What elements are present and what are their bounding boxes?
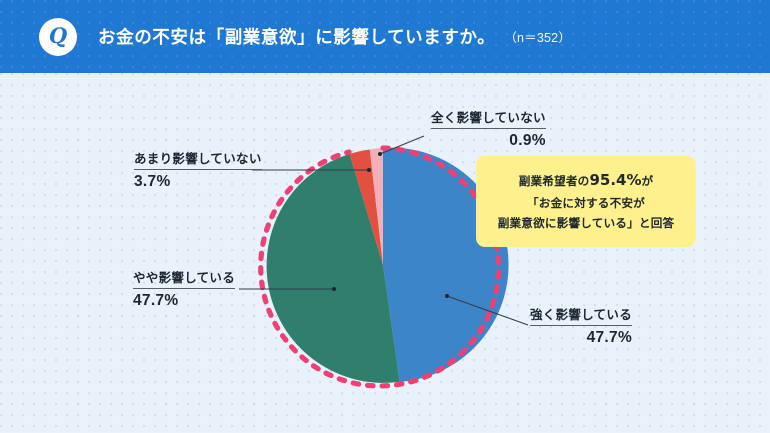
- callout-line1-pre: 副業希望者の: [519, 174, 590, 188]
- label-little: あまり影響していない 3.7%: [134, 148, 262, 191]
- label-some: やや影響している 47.7%: [133, 267, 235, 310]
- label-none: 全く影響していない 0.9%: [431, 107, 546, 150]
- callout-line1-post: が: [642, 174, 654, 188]
- label-some-percent: 47.7%: [133, 289, 235, 310]
- slide-root: Q お金の不安は「副業意欲」に影響していますか。 （n＝352）: [0, 0, 770, 433]
- label-strong-text: 強く影響している: [530, 304, 632, 325]
- callout-line-2: 「お金に対する不安が: [482, 194, 690, 214]
- label-some-text: やや影響している: [133, 267, 235, 288]
- callout-highlight-percent: 95.4%: [589, 171, 641, 189]
- label-little-percent: 3.7%: [134, 170, 262, 191]
- label-none-percent: 0.9%: [431, 129, 546, 150]
- label-strong: 強く影響している 47.7%: [530, 304, 632, 347]
- label-none-text: 全く影響していない: [431, 107, 546, 128]
- label-strong-percent: 47.7%: [530, 326, 632, 347]
- callout-line-3: 副業意欲に影響している」と回答: [482, 214, 690, 234]
- callout-line-1: 副業希望者の95.4%が: [482, 168, 690, 194]
- label-little-text: あまり影響していない: [134, 148, 262, 169]
- highlight-callout: 副業希望者の95.4%が 「お金に対する不安が 副業意欲に影響している」と回答: [476, 156, 696, 247]
